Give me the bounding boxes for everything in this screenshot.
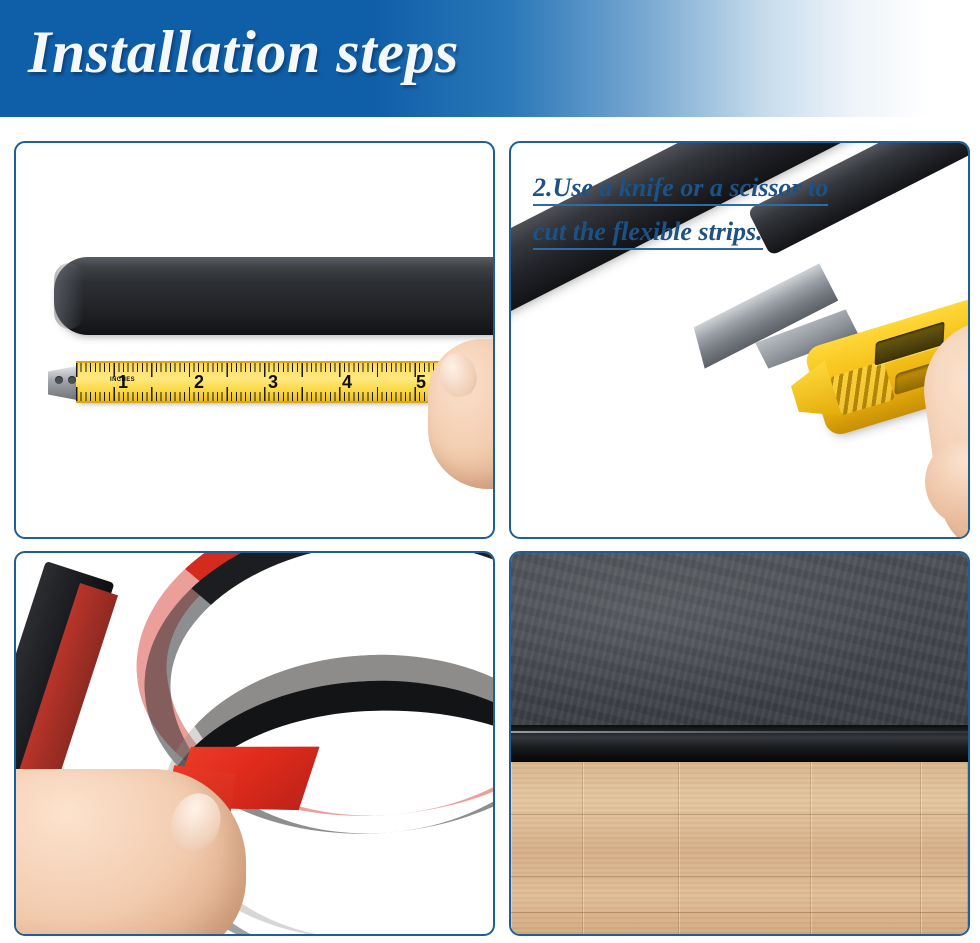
knife-grip (830, 361, 895, 416)
installation-steps-page: Installation steps INCHES 1 2 3 4 5 (0, 0, 980, 943)
tape-tick-1: 1 (118, 372, 128, 393)
step-panel-1: INCHES 1 2 3 4 5 1.Measure the correct l… (14, 141, 495, 539)
step-3-photo (16, 553, 493, 934)
step-1-photo: INCHES 1 2 3 4 5 (16, 143, 493, 537)
header-banner: Installation steps (0, 0, 980, 117)
step-4-photo (511, 553, 968, 934)
tape-blade: INCHES 1 2 3 4 5 (76, 361, 456, 403)
step-panel-4: 4.Stick it on the floor and finish. (509, 551, 970, 936)
trim-highlight (511, 731, 968, 733)
step-panel-3: 3.Tear off the red protective film. (14, 551, 495, 936)
page-title: Installation steps (28, 18, 459, 87)
wood-floor (511, 762, 968, 934)
tape-tick-2: 2 (194, 372, 204, 393)
step-panel-2: 2.Use a knife or a scissor to cut the fl… (509, 141, 970, 539)
tape-tick-4: 4 (342, 372, 352, 393)
tape-tick-5: 5 (416, 372, 426, 393)
caption-line: cut the flexible strips. (533, 219, 763, 250)
hand (16, 769, 246, 934)
caption-line: 2.Use a knife or a scissor to (533, 175, 828, 206)
tape-measure: INCHES 1 2 3 4 5 (48, 361, 456, 403)
step-2-caption: 2.Use a knife or a scissor to cut the fl… (533, 175, 828, 250)
gray-wall (511, 553, 968, 725)
tape-tick-3: 3 (268, 372, 278, 393)
black-strip (54, 257, 493, 335)
